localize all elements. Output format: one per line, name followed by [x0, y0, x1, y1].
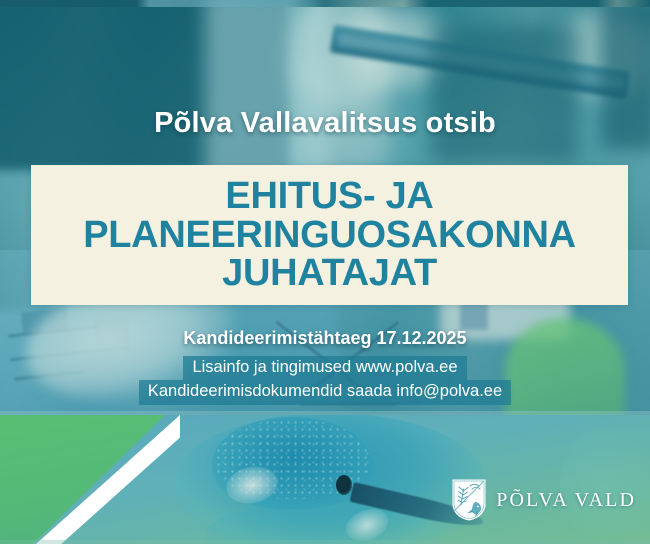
headline-line-3: JUHATAJAT	[83, 254, 576, 293]
kingfisher-eye	[336, 475, 352, 495]
logo-text: PÕLVA VALD	[496, 489, 636, 512]
job-title-headline: EHITUS- JA PLANEERINGUOSAKONNA JUHATAJAT	[77, 177, 582, 293]
bottom-edge-strip	[0, 540, 650, 544]
headline-panel: EHITUS- JA PLANEERINGUOSAKONNA JUHATAJAT	[31, 165, 628, 305]
job-advert-poster: Põlva Vallavalitsus otsib EHITUS- JA PLA…	[0, 0, 650, 544]
coat-of-arms-shield-icon	[451, 478, 487, 522]
headline-line-1: EHITUS- JA	[83, 177, 576, 216]
polva-vald-logo[interactable]: PÕLVA VALD	[451, 478, 636, 522]
info-block: Lisainfo ja tingimused www.polva.ee Kand…	[0, 356, 650, 405]
headline-line-2: PLANEERINGUOSAKONNA	[83, 216, 576, 255]
top-edge-strip	[0, 0, 650, 7]
info-line-website[interactable]: Lisainfo ja tingimused www.polva.ee	[183, 356, 466, 380]
application-deadline: Kandideerimistähtaeg 17.12.2025	[0, 328, 650, 349]
photo-shape-dark-mid	[430, 25, 580, 165]
band-seam-divider	[0, 411, 650, 415]
info-line-email[interactable]: Kandideerimisdokumendid saada info@polva…	[139, 380, 511, 404]
poster-title: Põlva Vallavalitsus otsib	[0, 107, 650, 140]
